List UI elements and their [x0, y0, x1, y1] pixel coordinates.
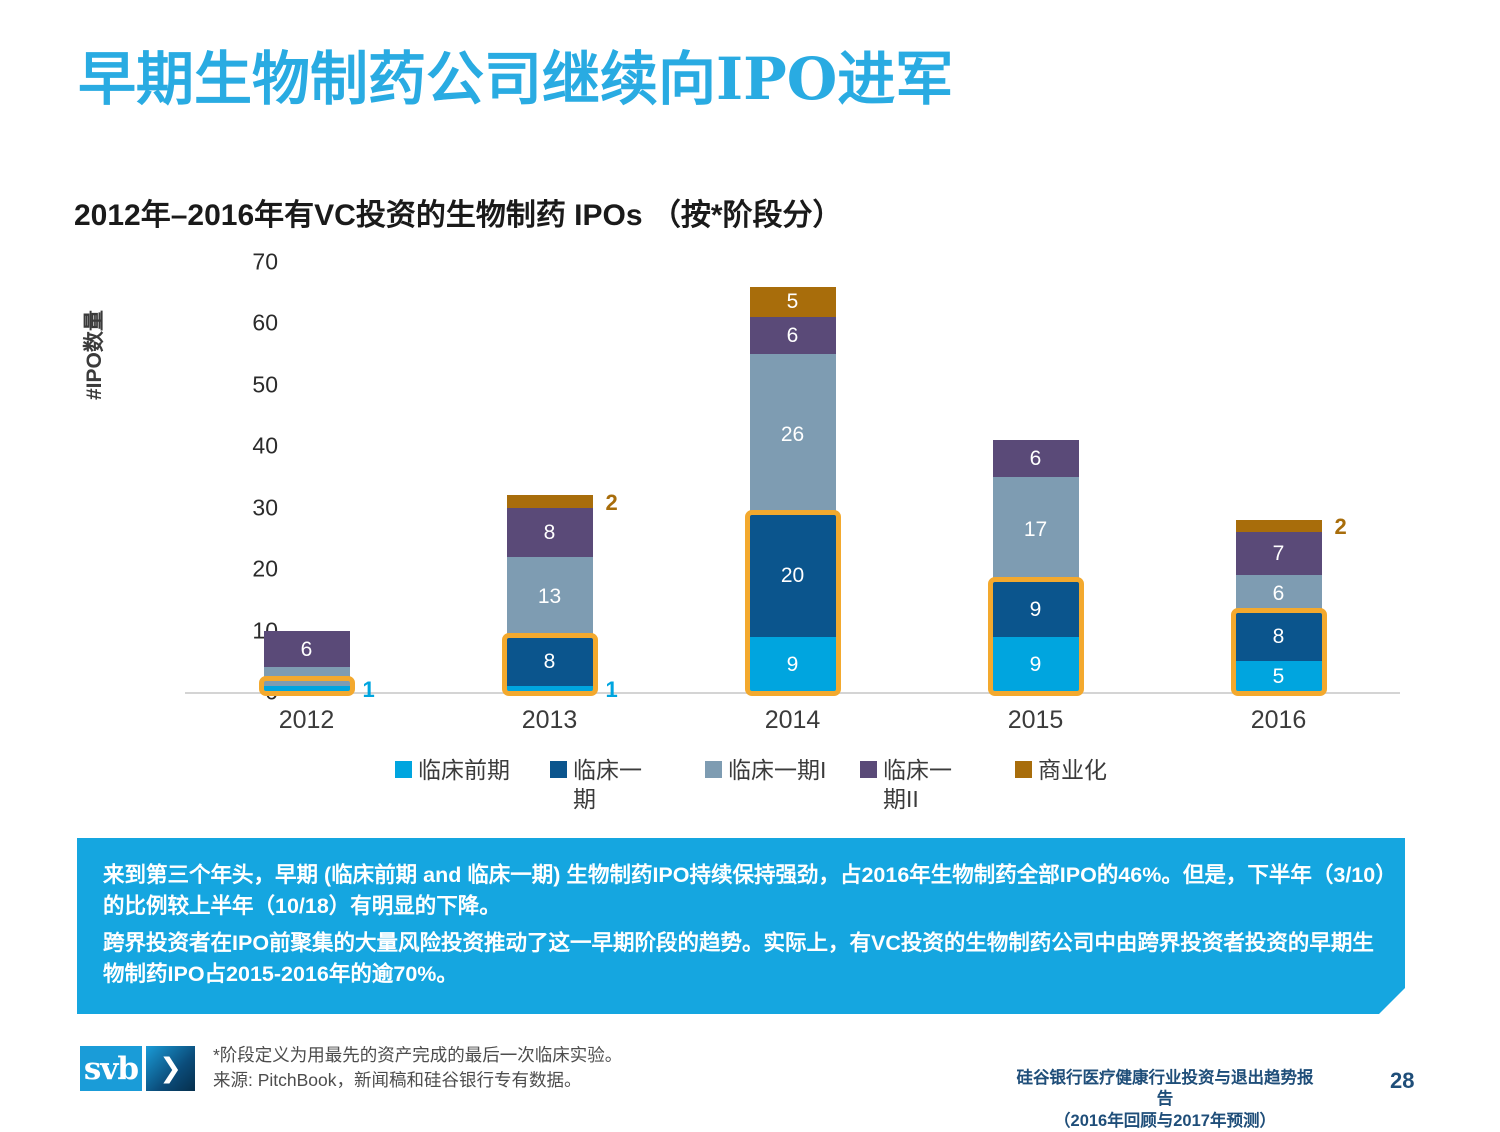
bar-segment-临床一期I[interactable]: [264, 667, 350, 685]
bar-segment-临床一期I[interactable]: 26: [750, 354, 836, 514]
bar-segment-临床一期II[interactable]: 6: [264, 631, 350, 668]
bar-segment-临床一期I[interactable]: 13: [507, 557, 593, 637]
x-axis-tick-label-2012: 2012: [185, 706, 428, 735]
svb-logo-wordmark: svb: [80, 1046, 142, 1091]
chart-legend: 临床前期临床一 期临床一期I临床一 期II商业化: [395, 756, 1155, 826]
bar-segment-临床一期II[interactable]: 6: [750, 317, 836, 354]
bar-segment-临床前期[interactable]: [507, 686, 593, 692]
bar-column-2012[interactable]: 61: [185, 262, 428, 692]
bar-outside-label: 1: [606, 677, 618, 703]
bar-segment-value: 9: [1030, 654, 1042, 675]
page-title: 早期生物制药公司继续向IPO进军: [78, 32, 953, 116]
bar-column-2014[interactable]: 9202665: [671, 262, 914, 692]
bar-segment-value: 8: [544, 522, 556, 543]
bar-segment-value: 6: [1273, 583, 1285, 604]
report-title-line-1: 硅谷银行医疗健康行业投资与退出趋势报告: [1010, 1068, 1320, 1111]
legend-swatch-icon: [395, 761, 412, 778]
x-axis-tick-label-2016: 2016: [1157, 706, 1400, 735]
y-axis-title: #IPO数量: [78, 180, 108, 400]
bar-segment-临床一期II[interactable]: 6: [993, 440, 1079, 477]
legend-label: 临床一 期II: [883, 756, 952, 814]
source-note-line-2: 来源: PitchBook，新闻稿和硅谷银行专有数据。: [213, 1068, 622, 1093]
bar-outside-label: 2: [1335, 514, 1347, 540]
bar-segment-value: 6: [301, 639, 313, 660]
bar-segment-value: 9: [1030, 599, 1042, 620]
bar-outside-label: 2: [606, 490, 618, 516]
page-number: 28: [1390, 1068, 1414, 1094]
legend-label: 商业化: [1038, 756, 1107, 785]
bar-segment-value: 13: [538, 586, 561, 607]
x-axis-tick-label-2015: 2015: [914, 706, 1157, 735]
bar-segment-临床一期I[interactable]: 6: [1236, 575, 1322, 612]
bar-segment-value: 17: [1024, 519, 1047, 540]
bar-segment-value: 26: [781, 424, 804, 445]
bar-segment-商业化[interactable]: [507, 495, 593, 507]
source-note-line-1: *阶段定义为用最先的资产完成的最后一次临床实验。: [213, 1043, 622, 1068]
bar-segment-临床一期II[interactable]: 7: [1236, 532, 1322, 575]
bar-segment-value: 5: [787, 291, 799, 312]
bar-stack[interactable]: 6: [264, 631, 350, 692]
svb-logo: svb ❯: [80, 1046, 195, 1091]
bar-segment-临床前期[interactable]: 5: [1236, 661, 1322, 692]
legend-item-2[interactable]: 临床一期I: [705, 756, 826, 785]
bar-segment-临床一期II[interactable]: 8: [507, 508, 593, 557]
bar-segment-value: 6: [787, 325, 799, 346]
bar-column-2013[interactable]: 813812: [428, 262, 671, 692]
bar-stack[interactable]: 8138: [507, 495, 593, 692]
bar-segment-value: 8: [544, 651, 556, 672]
bar-segment-value: 8: [1273, 626, 1285, 647]
callout-box: 来到第三个年头，早期 (临床前期 and 临床一期) 生物制药IPO持续保持强劲…: [77, 838, 1405, 1014]
legend-item-4[interactable]: 商业化: [1015, 756, 1107, 785]
bar-segment-临床前期[interactable]: 9: [993, 637, 1079, 692]
legend-swatch-icon: [705, 761, 722, 778]
bar-segment-临床一期[interactable]: 9: [993, 581, 1079, 636]
bar-column-2016[interactable]: 58672: [1157, 262, 1400, 692]
source-note: *阶段定义为用最先的资产完成的最后一次临床实验。 来源: PitchBook，新…: [213, 1043, 622, 1094]
bar-segment-临床前期[interactable]: 9: [750, 637, 836, 692]
legend-item-0[interactable]: 临床前期: [395, 756, 510, 785]
bar-segment-临床一期[interactable]: 8: [1236, 612, 1322, 661]
bar-segment-value: 5: [1273, 666, 1285, 687]
legend-label: 临床一 期: [573, 756, 642, 814]
bar-segment-商业化[interactable]: 5: [750, 287, 836, 318]
callout-paragraph-1: 来到第三个年头，早期 (临床前期 and 临床一期) 生物制药IPO持续保持强劲…: [103, 860, 1388, 921]
legend-item-3[interactable]: 临床一 期II: [860, 756, 952, 814]
bar-segment-value: 20: [781, 565, 804, 586]
plot-area: 6181381292026659917658672: [185, 262, 1400, 692]
legend-swatch-icon: [1015, 761, 1032, 778]
report-title-footer: 硅谷银行医疗健康行业投资与退出趋势报告 （2016年回顾与2017年预测）: [1010, 1068, 1320, 1132]
x-axis-tick-label-2013: 2013: [428, 706, 671, 735]
callout-paragraph-2: 跨界投资者在IPO前聚集的大量风险投资推动了这一早期阶段的趋势。实际上，有VC投…: [103, 928, 1388, 989]
report-title-line-2: （2016年回顾与2017年预测）: [1010, 1111, 1320, 1132]
legend-label: 临床前期: [418, 756, 510, 785]
legend-swatch-icon: [550, 761, 567, 778]
legend-swatch-icon: [860, 761, 877, 778]
bar-stack[interactable]: 99176: [993, 440, 1079, 692]
legend-label: 临床一期I: [728, 756, 826, 785]
bar-column-2015[interactable]: 99176: [914, 262, 1157, 692]
bar-stack[interactable]: 5867: [1236, 520, 1322, 692]
bar-segment-value: 9: [787, 654, 799, 675]
x-axis-tick-label-2014: 2014: [671, 706, 914, 735]
legend-item-1[interactable]: 临床一 期: [550, 756, 642, 814]
bar-segment-value: 6: [1030, 448, 1042, 469]
chart-title: 2012年–2016年有VC投资的生物制药 IPOs （按*阶段分）: [74, 190, 843, 234]
bar-segment-临床一期I[interactable]: 17: [993, 477, 1079, 581]
bar-outside-label: 1: [363, 677, 375, 703]
bar-segment-value: 7: [1273, 543, 1285, 564]
chevron-right-icon: ❯: [146, 1046, 195, 1091]
bar-segment-临床一期[interactable]: 20: [750, 514, 836, 637]
bar-segment-商业化[interactable]: [1236, 520, 1322, 532]
bar-stack[interactable]: 9202665: [750, 287, 836, 692]
bar-segment-临床一期[interactable]: 8: [507, 637, 593, 686]
bar-segment-临床前期[interactable]: [264, 686, 350, 692]
